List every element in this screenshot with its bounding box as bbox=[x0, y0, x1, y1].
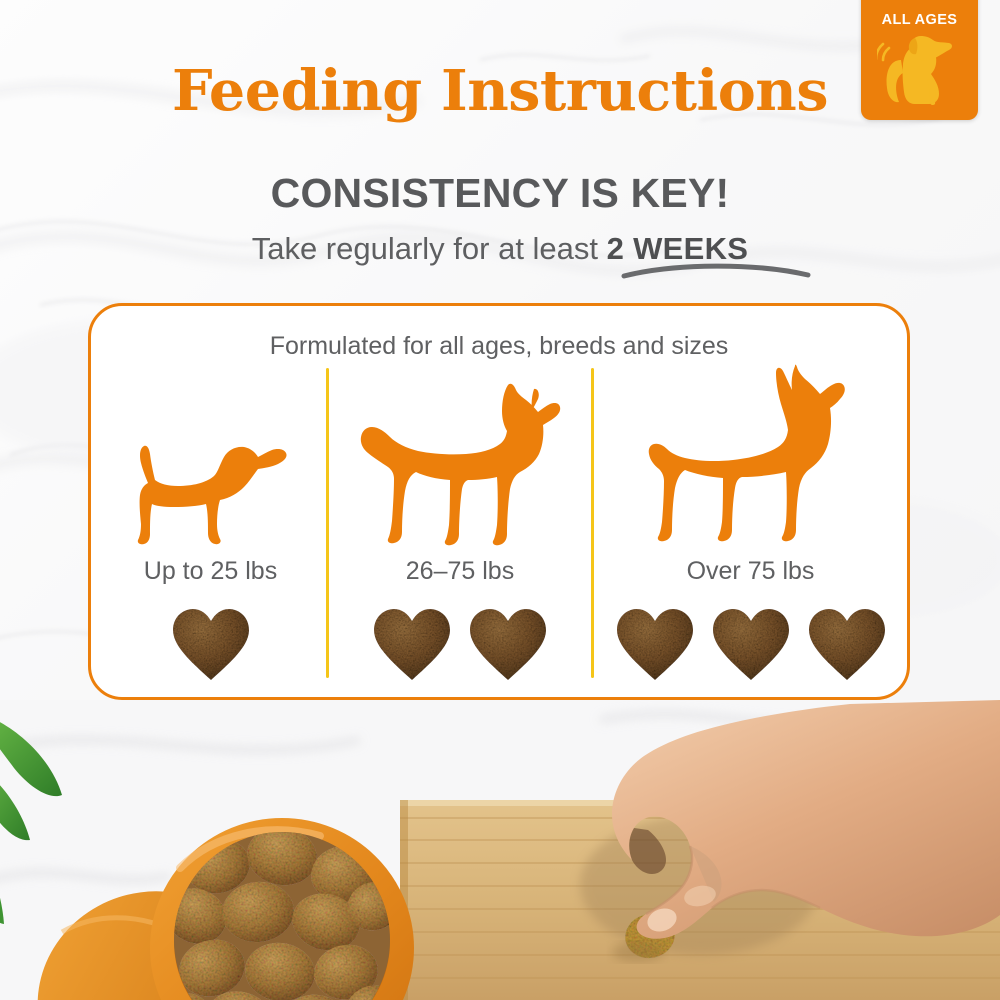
card-caption: Formulated for all ages, breeds and size… bbox=[91, 332, 907, 361]
heart-treat-icon bbox=[805, 604, 889, 682]
heart-treat-icon bbox=[169, 604, 253, 682]
heart-treat-icon bbox=[370, 604, 454, 682]
size-column-small: Up to 25 lbs bbox=[95, 366, 326, 696]
size-column-medium: 26–75 lbs bbox=[329, 366, 591, 696]
large-dog-silhouette-icon bbox=[643, 364, 858, 546]
dog-illustration-slot bbox=[329, 381, 591, 546]
badge-label: ALL AGES bbox=[861, 12, 978, 28]
heart-treat-icon bbox=[613, 604, 697, 682]
treat-portion-medium bbox=[329, 604, 591, 682]
page-title: Feeding Instructions bbox=[0, 58, 1000, 124]
weight-label-small: Up to 25 lbs bbox=[95, 557, 326, 586]
weight-label-large: Over 75 lbs bbox=[594, 557, 907, 586]
treat-portion-small bbox=[95, 604, 326, 682]
dog-illustration-slot bbox=[95, 438, 326, 546]
poster-canvas: ALL AGES Feeding Instructions CONSISTENC… bbox=[0, 0, 1000, 1000]
tagline: Take regularly for at least 2 WEEKS bbox=[0, 231, 1000, 267]
treat-portion-large bbox=[594, 604, 907, 682]
dog-illustration-slot bbox=[594, 364, 907, 546]
heart-treat-icon bbox=[466, 604, 550, 682]
small-dog-silhouette-icon bbox=[126, 438, 296, 546]
weight-label-medium: 26–75 lbs bbox=[329, 557, 591, 586]
feeding-chart-card: Formulated for all ages, breeds and size… bbox=[88, 303, 910, 700]
heart-treat-icon bbox=[709, 604, 793, 682]
underline-swoosh-icon bbox=[621, 259, 811, 281]
size-column-large: Over 75 lbs bbox=[594, 366, 907, 696]
tagline-prefix: Take regularly for at least bbox=[252, 231, 607, 266]
product-photo-scene bbox=[0, 700, 1000, 1000]
subtitle: CONSISTENCY IS KEY! bbox=[0, 170, 1000, 217]
product-photo bbox=[0, 700, 1000, 1000]
medium-dog-silhouette-icon bbox=[358, 381, 563, 546]
